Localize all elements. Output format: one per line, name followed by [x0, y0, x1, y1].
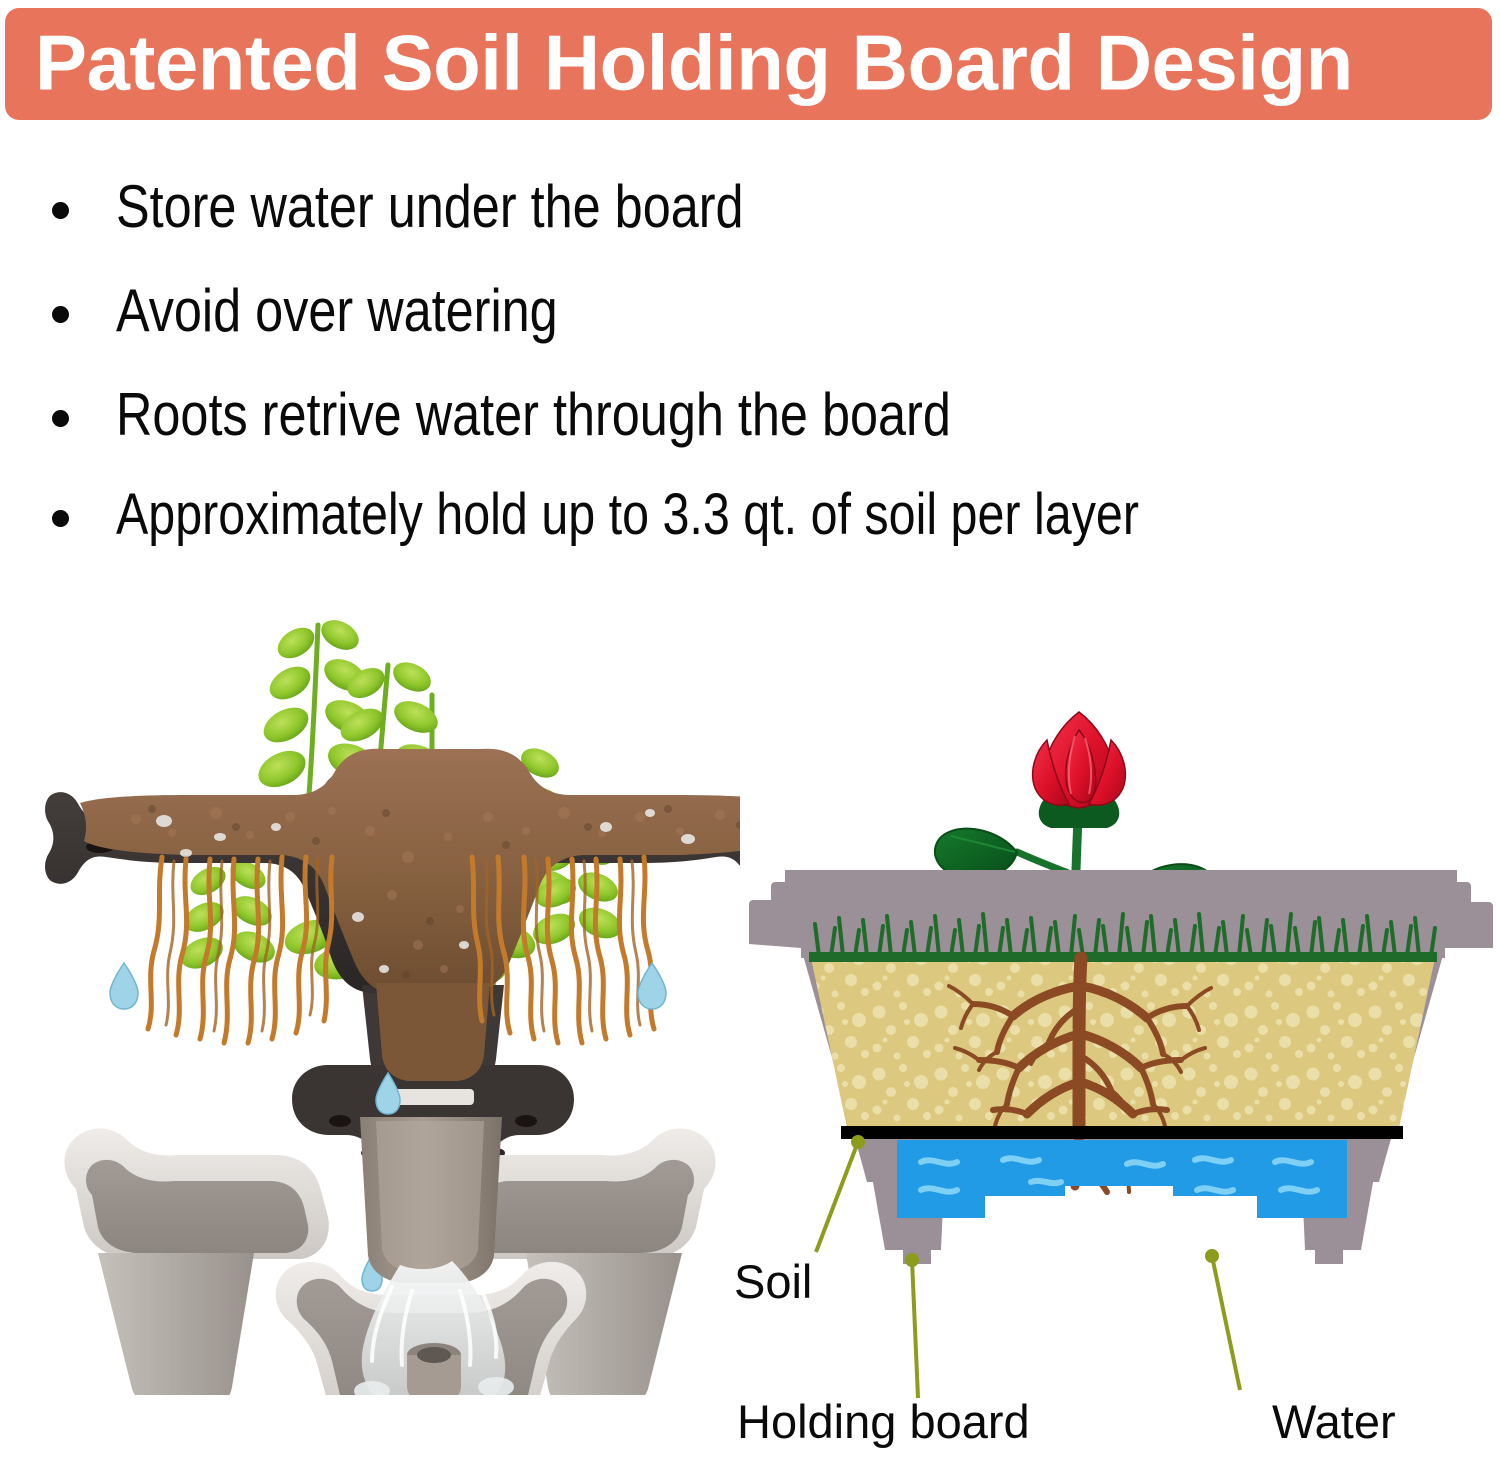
bullet-dot-icon: [52, 410, 69, 427]
feature-bullet-list: Store water under the board Avoid over w…: [52, 155, 1492, 563]
bullet-dot-icon: [52, 306, 69, 323]
callout-label-holding-board: Holding board: [737, 1398, 1030, 1445]
list-item: Store water under the board: [52, 155, 1492, 259]
page-title: Patented Soil Holding Board Design: [35, 23, 1353, 101]
callout-label-soil: Soil: [734, 1258, 812, 1305]
header-banner: Patented Soil Holding Board Design: [5, 8, 1492, 120]
list-item: Avoid over watering: [52, 259, 1492, 363]
drain-spout-icon: [407, 1343, 461, 1395]
stored-water-icon: [897, 1140, 1347, 1218]
list-item: Approximately hold up to 3.3 qt. of soil…: [52, 467, 1492, 563]
holding-board-icon: [841, 1126, 1403, 1139]
bullet-dot-icon: [52, 510, 69, 527]
pot-cross-section-diagram: [745, 690, 1500, 1310]
list-item: Roots retrive water through the board: [52, 363, 1492, 467]
list-item-label: Store water under the board: [116, 176, 744, 237]
bullet-dot-icon: [52, 202, 69, 219]
stacked-planter-photo: [40, 565, 740, 1395]
clover-planter-icon: [64, 1117, 715, 1395]
callout-label-water: Water: [1272, 1398, 1396, 1445]
list-item-label: Avoid over watering: [116, 280, 558, 341]
list-item-label: Approximately hold up to 3.3 qt. of soil…: [116, 485, 1139, 544]
list-item-label: Roots retrive water through the board: [116, 384, 951, 445]
